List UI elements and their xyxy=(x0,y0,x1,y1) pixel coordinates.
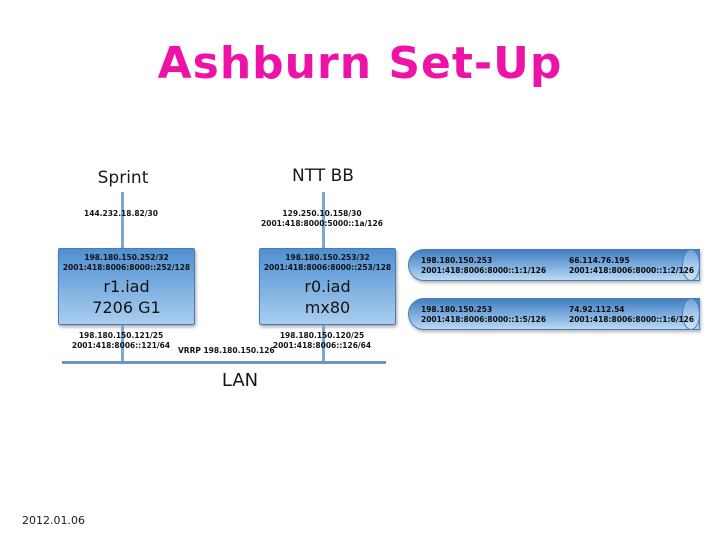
uplink-ntt-ipv4: 129.250.10.158/30 xyxy=(247,209,397,219)
router-r0-loopback-ipv6: 2001:418:8006:8000::253/128 xyxy=(260,263,395,273)
router-r1-hostname: r1.iad xyxy=(59,276,194,297)
router-r1-identity: r1.iad 7206 G1 xyxy=(59,276,194,318)
lan-r0-ipv4: 198.180.150.120/25 xyxy=(247,331,397,341)
provider-label-sprint: Sprint xyxy=(68,168,178,188)
router-r0-identity: r0.iad mx80 xyxy=(260,276,395,318)
peering-1-local-addresses: 198.180.150.253 2001:418:8006:8000::1:1/… xyxy=(421,256,546,276)
peering-link-cylinder-1[interactable]: 198.180.150.253 2001:418:8006:8000::1:1/… xyxy=(408,249,700,281)
router-r0-hostname: r0.iad xyxy=(260,276,395,297)
router-r1-loopback-ipv4: 198.180.150.252/32 xyxy=(59,253,194,263)
router-r0-loopback-addresses: 198.180.150.253/32 2001:418:8006:8000::2… xyxy=(260,253,395,273)
slide-canvas: Ashburn Set-Up Sprint NTT BB 144.232.18.… xyxy=(0,0,720,540)
peering-2-remote-addresses: 74.92.112.54 2001:418:8006:8000::1:6/126 xyxy=(569,305,694,325)
router-r0-model: mx80 xyxy=(260,297,395,318)
peering-2-local-addresses: 198.180.150.253 2001:418:8006:8000::1:5/… xyxy=(421,305,546,325)
uplink-label-sprint: 144.232.18.82/30 xyxy=(46,209,196,219)
peering-2-remote-ipv4: 74.92.112.54 xyxy=(569,305,694,315)
peering-1-local-ipv6: 2001:418:8006:8000::1:1/126 xyxy=(421,266,546,276)
connector-line-sprint-uplink xyxy=(121,192,124,250)
peering-2-local-ipv4: 198.180.150.253 xyxy=(421,305,546,315)
uplink-label-ntt: 129.250.10.158/30 2001:418:8000:5000::1a… xyxy=(247,209,397,229)
uplink-sprint-ipv4: 144.232.18.82/30 xyxy=(46,209,196,219)
peering-link-cylinder-2[interactable]: 198.180.150.253 2001:418:8006:8000::1:5/… xyxy=(408,298,700,330)
peering-1-remote-addresses: 66.114.76.195 2001:418:8006:8000::1:2/12… xyxy=(569,256,694,276)
router-r0-loopback-ipv4: 198.180.150.253/32 xyxy=(260,253,395,263)
lan-r1-ipv4: 198.180.150.121/25 xyxy=(46,331,196,341)
lan-r1-ipv6: 2001:418:8006::121/64 xyxy=(46,341,196,351)
lan-label-r1: 198.180.150.121/25 2001:418:8006::121/64 xyxy=(46,331,196,351)
peering-2-remote-ipv6: 2001:418:8006:8000::1:6/126 xyxy=(569,315,694,325)
router-r1-model: 7206 G1 xyxy=(59,297,194,318)
provider-label-ntt-bb: NTT BB xyxy=(268,166,378,186)
peering-1-remote-ipv4: 66.114.76.195 xyxy=(569,256,694,266)
uplink-ntt-ipv6: 2001:418:8000:5000::1a/126 xyxy=(247,219,397,229)
router-node-r0-iad[interactable]: 198.180.150.253/32 2001:418:8006:8000::2… xyxy=(259,248,396,325)
peering-1-remote-ipv6: 2001:418:8006:8000::1:2/126 xyxy=(569,266,694,276)
footer-date: 2012.01.06 xyxy=(22,514,85,527)
peering-2-local-ipv6: 2001:418:8006:8000::1:5/126 xyxy=(421,315,546,325)
router-node-r1-iad[interactable]: 198.180.150.252/32 2001:418:8006:8000::2… xyxy=(58,248,195,325)
router-r1-loopback-addresses: 198.180.150.252/32 2001:418:8006:8000::2… xyxy=(59,253,194,273)
router-r1-loopback-ipv6: 2001:418:8006:8000::252/128 xyxy=(59,263,194,273)
vrrp-label: VRRP 198.180.150.126 xyxy=(178,346,318,356)
page-title: Ashburn Set-Up xyxy=(0,38,720,89)
peering-1-local-ipv4: 198.180.150.253 xyxy=(421,256,546,266)
lan-bus-line xyxy=(62,361,386,364)
lan-caption: LAN xyxy=(180,370,300,391)
